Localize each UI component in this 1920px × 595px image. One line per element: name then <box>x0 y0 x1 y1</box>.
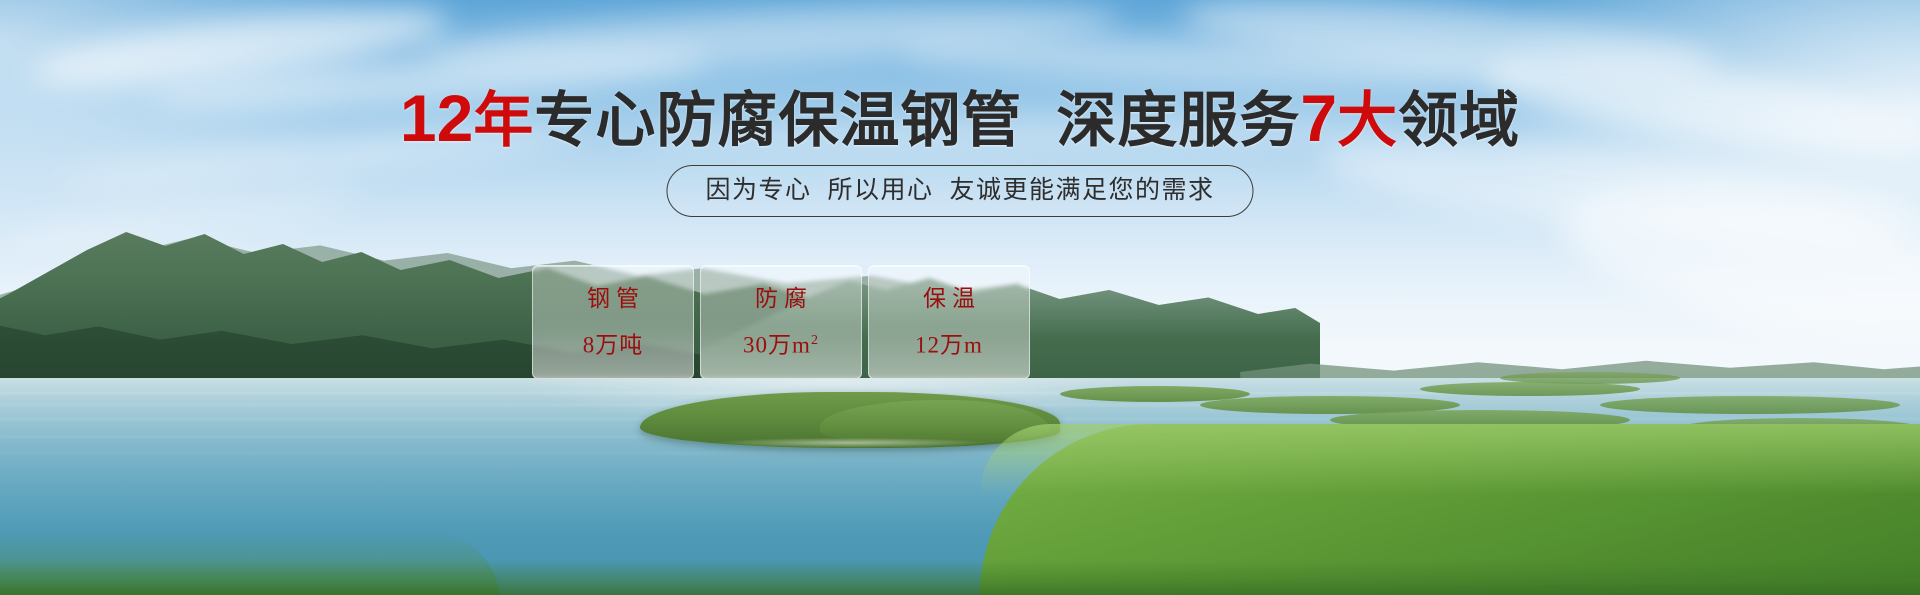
stat-value-superscript: 2 <box>811 333 819 348</box>
stat-value: 8万吨 <box>583 328 644 359</box>
headline-years-unit: 年 <box>473 87 534 154</box>
headline-fields-number: 7 <box>1300 81 1337 155</box>
stat-value-text: 30万m <box>743 332 811 357</box>
stat-card-steel-pipe[interactable]: 钢管 8万吨 <box>532 265 694 379</box>
stat-card-insulation[interactable]: 保温 12万m <box>868 265 1030 379</box>
headline-years-number: 12 <box>400 81 473 155</box>
subtitle-pill: 因为专心所以用心友诚更能满足您的需求 <box>666 165 1253 217</box>
headline-phrase-fields: 领域 <box>1398 87 1520 154</box>
stats-card-group: 钢管 8万吨 防腐 30万m2 保温 12万m <box>532 265 1030 379</box>
stat-label: 钢管 <box>581 286 645 312</box>
banner-content: 12年专心防腐保温钢管深度服务7大领域 因为专心所以用心友诚更能满足您的需求 钢… <box>0 0 1920 595</box>
hero-banner: 12年专心防腐保温钢管深度服务7大领域 因为专心所以用心友诚更能满足您的需求 钢… <box>0 0 1920 595</box>
subtitle-segment-2: 所以用心 <box>827 176 933 204</box>
subtitle-segment-1: 因为专心 <box>705 176 811 204</box>
stat-value-text: 12万m <box>915 332 983 357</box>
subtitle-segment-3: 友诚更能满足您的需求 <box>950 176 1215 204</box>
page-title: 12年专心防腐保温钢管深度服务7大领域 <box>0 86 1920 153</box>
headline-fields-unit: 大 <box>1337 87 1398 154</box>
stat-label: 保温 <box>917 286 981 312</box>
stat-value: 30万m2 <box>743 328 819 359</box>
stat-card-anticorrosion[interactable]: 防腐 30万m2 <box>700 265 862 379</box>
stat-label: 防腐 <box>749 286 813 312</box>
headline-phrase-main: 专心防腐保温钢管 <box>534 87 1022 154</box>
stat-value-text: 8万吨 <box>583 332 644 357</box>
headline-phrase-service: 深度服务 <box>1056 87 1300 154</box>
stat-value: 12万m <box>915 328 983 359</box>
